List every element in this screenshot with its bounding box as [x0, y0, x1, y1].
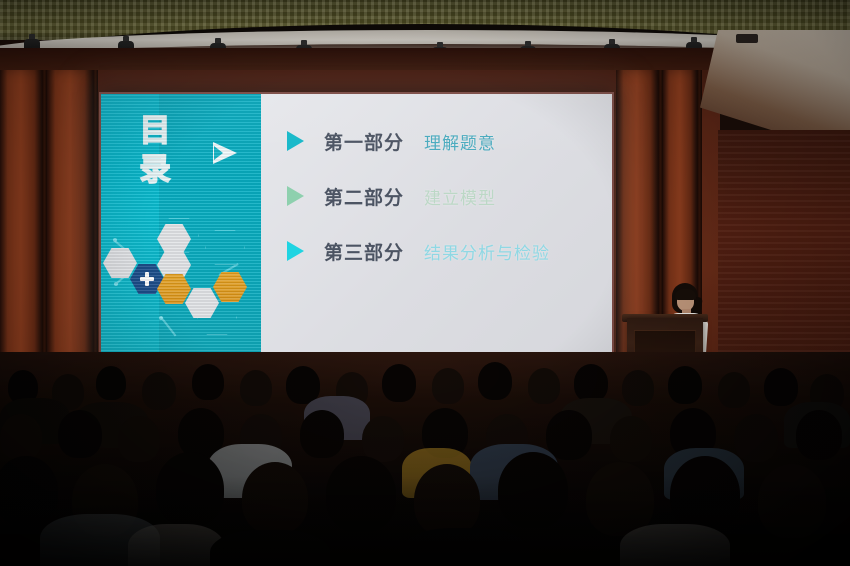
slide-agenda-list: 第一部分 理解题意 第二部分 建立模型 第三部分 结果分析与检验	[287, 126, 587, 291]
speaker-fringe	[675, 289, 696, 300]
agenda-sub-label: 建立模型	[424, 184, 496, 209]
agenda-part-label: 第二部分	[324, 183, 424, 210]
hex-white	[103, 248, 137, 278]
agenda-row[interactable]: 第二部分 建立模型	[287, 181, 587, 211]
agenda-sub-label: 结果分析与检验	[424, 239, 550, 264]
seated-audience	[0, 352, 850, 566]
projection-screen[interactable]: 目录 第一	[101, 94, 612, 360]
auditorium-scene: 目录 第一	[0, 0, 850, 566]
hexagon-molecule-graphic	[101, 212, 261, 342]
agenda-row[interactable]: 第三部分 结果分析与检验	[287, 236, 587, 266]
ceiling-fixture	[736, 34, 758, 43]
triangle-bullet-icon	[287, 131, 304, 151]
triangle-bullet-icon	[287, 186, 304, 206]
agenda-part-label: 第三部分	[324, 238, 424, 265]
wall-header-band	[0, 48, 720, 70]
hex-gold	[213, 272, 247, 302]
agenda-sub-label: 理解题意	[424, 129, 496, 154]
play-triangle-icon	[213, 142, 239, 164]
slide-toc-title: 目录	[127, 112, 183, 194]
agenda-part-label: 第一部分	[324, 128, 424, 155]
agenda-row[interactable]: 第一部分 理解题意	[287, 126, 587, 156]
triangle-bullet-icon	[287, 241, 304, 261]
